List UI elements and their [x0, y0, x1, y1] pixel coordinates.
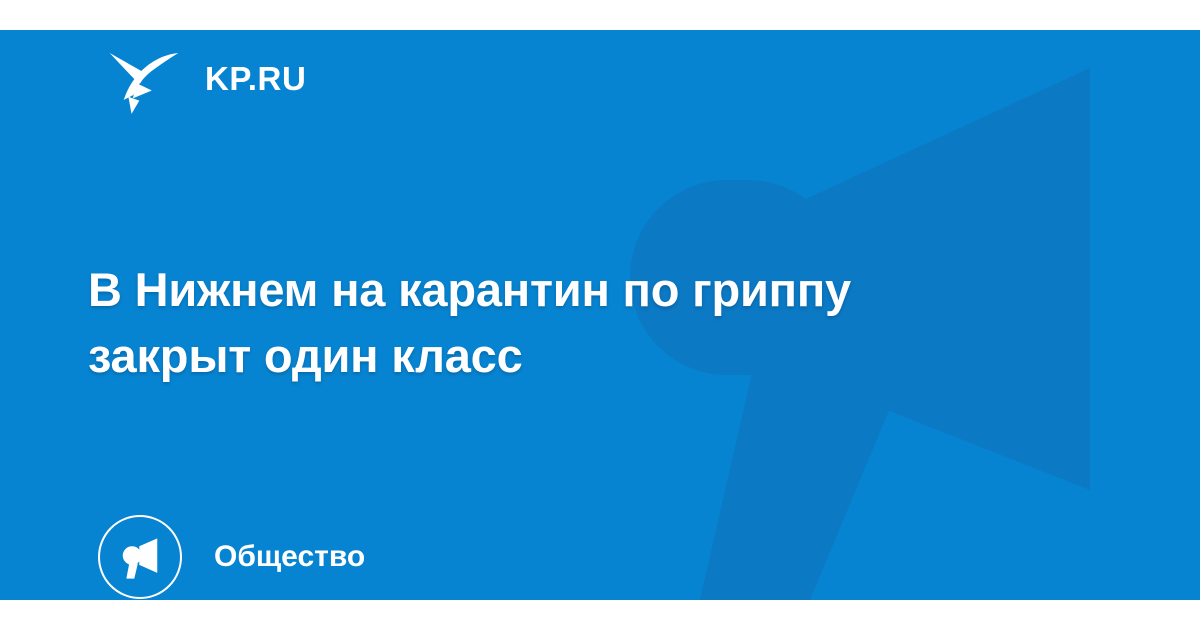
headline: В Нижнем на карантин по гриппу закрыт од…	[88, 257, 1088, 389]
card-canvas: KP.RU В Нижнем на карантин по гриппу зак…	[0, 30, 1200, 600]
rubric-icon-circle	[98, 515, 182, 599]
brand-name: KP.RU	[205, 62, 306, 95]
social-share-card: KP.RU В Нижнем на карантин по гриппу зак…	[0, 0, 1200, 630]
rubric-label: Общество	[214, 542, 365, 572]
megaphone-icon	[117, 534, 163, 580]
brand-logo[interactable]: KP.RU	[105, 38, 306, 118]
swallow-bird-icon	[105, 39, 183, 117]
rubric-badge[interactable]: Общество	[98, 514, 365, 600]
